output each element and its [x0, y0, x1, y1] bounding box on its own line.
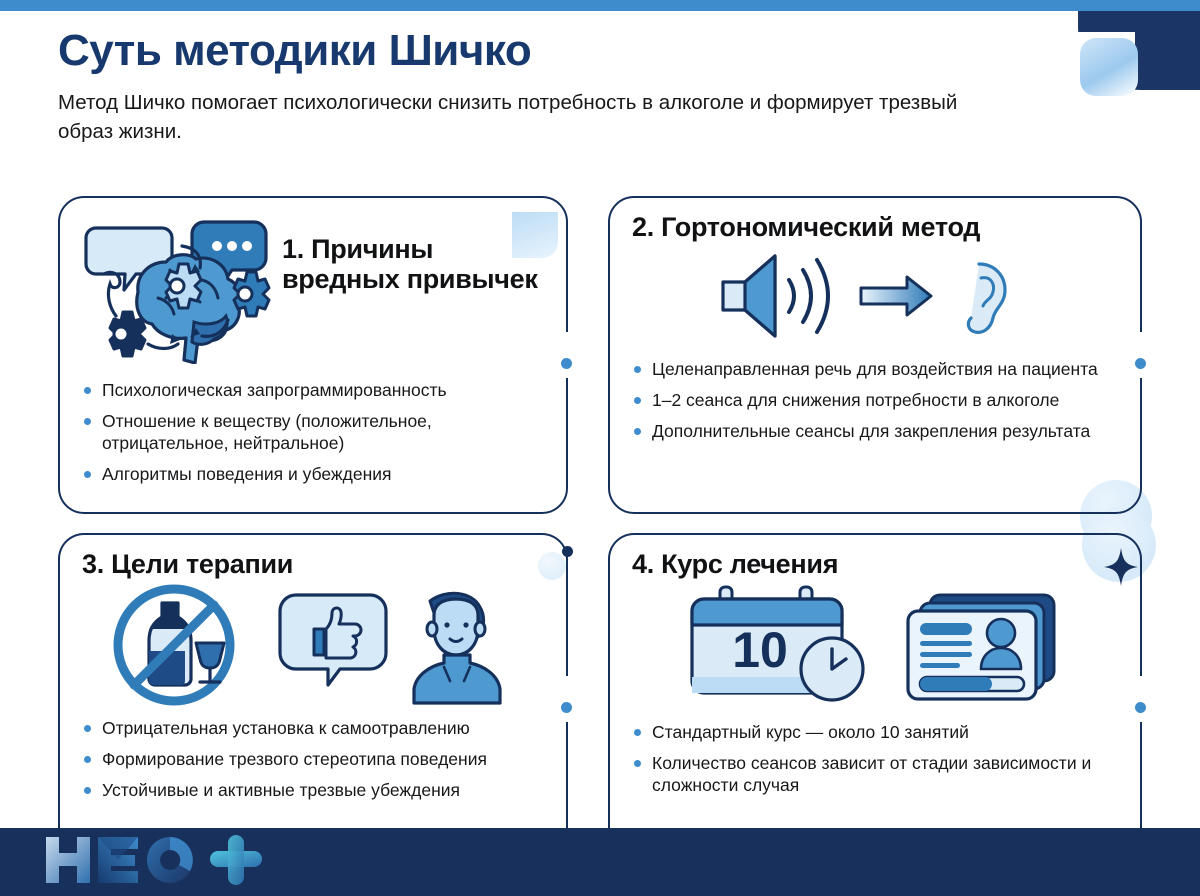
header: Суть методики Шичко Метод Шичко помогает… — [58, 28, 1018, 146]
list-item: Количество сеансов зависит от стадии зав… — [632, 752, 1120, 796]
list-item: Отношение к веществу (положительное, отр… — [82, 410, 546, 454]
calendar-day-number: 10 — [732, 622, 788, 678]
page-subtitle: Метод Шичко помогает психологически сниз… — [58, 88, 958, 146]
list-item: Отрицательная установка к самоотравлению — [82, 717, 546, 739]
list-item: 1–2 сеанса для снижения потребности в ал… — [632, 389, 1120, 411]
card3-title: 3. Цели терапии — [82, 549, 546, 579]
list-item: Алгоритмы поведения и убеждения — [82, 463, 546, 485]
card-causes-of-bad-habits[interactable]: 1. Причины вредных привычек Психологичес… — [58, 196, 568, 514]
card2-bullet-list: Целенаправленная речь для воздействия на… — [632, 358, 1120, 442]
card-gortonomic-method[interactable]: 2. Гортономический метод — [608, 196, 1142, 514]
corner-blue-square-decoration — [1080, 38, 1138, 96]
list-item: Дополнительные сеансы для закрепления ре… — [632, 420, 1120, 442]
card2-title: 2. Гортономический метод — [632, 212, 1120, 242]
list-item: Формирование трезвого стереотипа поведен… — [82, 748, 546, 770]
card1-title: 1. Причины вредных привычек — [282, 212, 546, 294]
card-therapy-goals[interactable]: 3. Цели терапии — [58, 533, 568, 863]
card1-bullet-list: Психологическая запрограммированность От… — [82, 379, 546, 485]
top-accent-bar — [0, 0, 1200, 11]
list-item: Психологическая запрограммированность — [82, 379, 546, 401]
brain-gears-speech-bubbles-icon — [82, 214, 278, 369]
card4-bullet-list: Стандартный курс — около 10 занятий Коли… — [632, 721, 1120, 796]
footer-bar — [0, 828, 1200, 896]
card4-title: 4. Курс лечения — [632, 549, 1120, 579]
calendar-clock-idcards-icon: 10 — [632, 581, 1120, 709]
list-item: Стандартный курс — около 10 занятий — [632, 721, 1120, 743]
no-alcohol-thumbsup-person-icon — [82, 581, 546, 709]
card3-bullet-list: Отрицательная установка к самоотравлению… — [82, 717, 546, 801]
speaker-arrow-ear-icon — [632, 246, 1120, 346]
list-item: Устойчивые и активные трезвые убеждения — [82, 779, 546, 801]
card-treatment-course[interactable]: 4. Курс лечения 10 — [608, 533, 1142, 863]
page-title: Суть методики Шичко — [58, 28, 1018, 74]
brand-logo — [40, 833, 270, 892]
list-item: Целенаправленная речь для воздействия на… — [632, 358, 1120, 380]
